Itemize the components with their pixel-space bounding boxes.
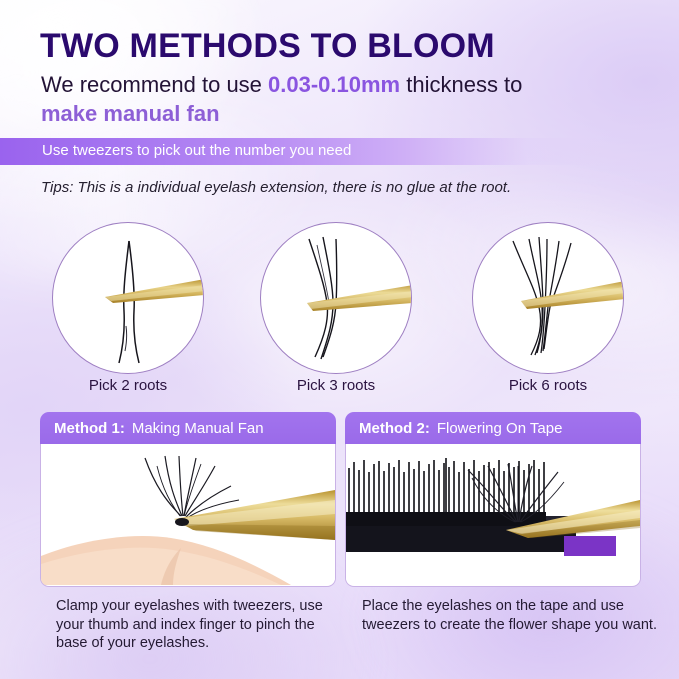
recommendation-line-2: make manual fan [41, 101, 220, 127]
page-title: TWO METHODS TO BLOOM [40, 27, 495, 66]
method-1-card: Method 1: Making Manual Fan [40, 412, 336, 587]
tweezers-lash-icon [53, 223, 204, 374]
roots-example-1-label: Pick 2 roots [52, 377, 204, 394]
recommend-suffix: thickness to [400, 72, 522, 97]
infographic-page: TWO METHODS TO BLOOM We recommend to use… [0, 0, 679, 679]
method-2-photo [345, 444, 641, 587]
instruction-banner-text: Use tweezers to pick out the number you … [42, 142, 351, 159]
method-1-header: Method 1: Making Manual Fan [40, 412, 336, 444]
roots-example-3 [472, 222, 624, 374]
roots-example-1 [52, 222, 204, 374]
method-1-number: Method 1: [54, 420, 125, 437]
recommend-prefix: We recommend to use [41, 72, 268, 97]
tips-note: Tips: This is a individual eyelash exten… [41, 179, 511, 196]
roots-examples-row: Pick 2 roots Pick 3 roots Pick 6 roots [0, 222, 679, 397]
thickness-value: 0.03-0.10mm [268, 72, 400, 97]
instruction-banner: Use tweezers to pick out the number you … [0, 138, 600, 165]
method-1-name: Making Manual Fan [132, 420, 264, 437]
roots-example-2-label: Pick 3 roots [260, 377, 412, 394]
method-2-card: Method 2: Flowering On Tape [345, 412, 641, 587]
method-1-caption: Clamp your eyelashes with tweezers, use … [56, 597, 346, 653]
roots-example-3-label: Pick 6 roots [472, 377, 624, 394]
roots-example-2 [260, 222, 412, 374]
method-2-caption: Place the eyelashes on the tape and use … [362, 597, 662, 634]
tweezers-lash-icon [261, 223, 412, 374]
roots-example-3-circle [472, 222, 624, 374]
tweezers-lash-icon [473, 223, 624, 374]
roots-example-1-circle [52, 222, 204, 374]
lash-strip-tape-tweezers-photo [346, 444, 640, 585]
method-2-number: Method 2: [359, 420, 430, 437]
method-2-header: Method 2: Flowering On Tape [345, 412, 641, 444]
fingers-tweezers-fan-photo [41, 444, 335, 585]
method-1-photo [40, 444, 336, 587]
method-2-name: Flowering On Tape [437, 420, 563, 437]
recommendation-line-1: We recommend to use 0.03-0.10mm thicknes… [41, 72, 522, 98]
roots-example-2-circle [260, 222, 412, 374]
